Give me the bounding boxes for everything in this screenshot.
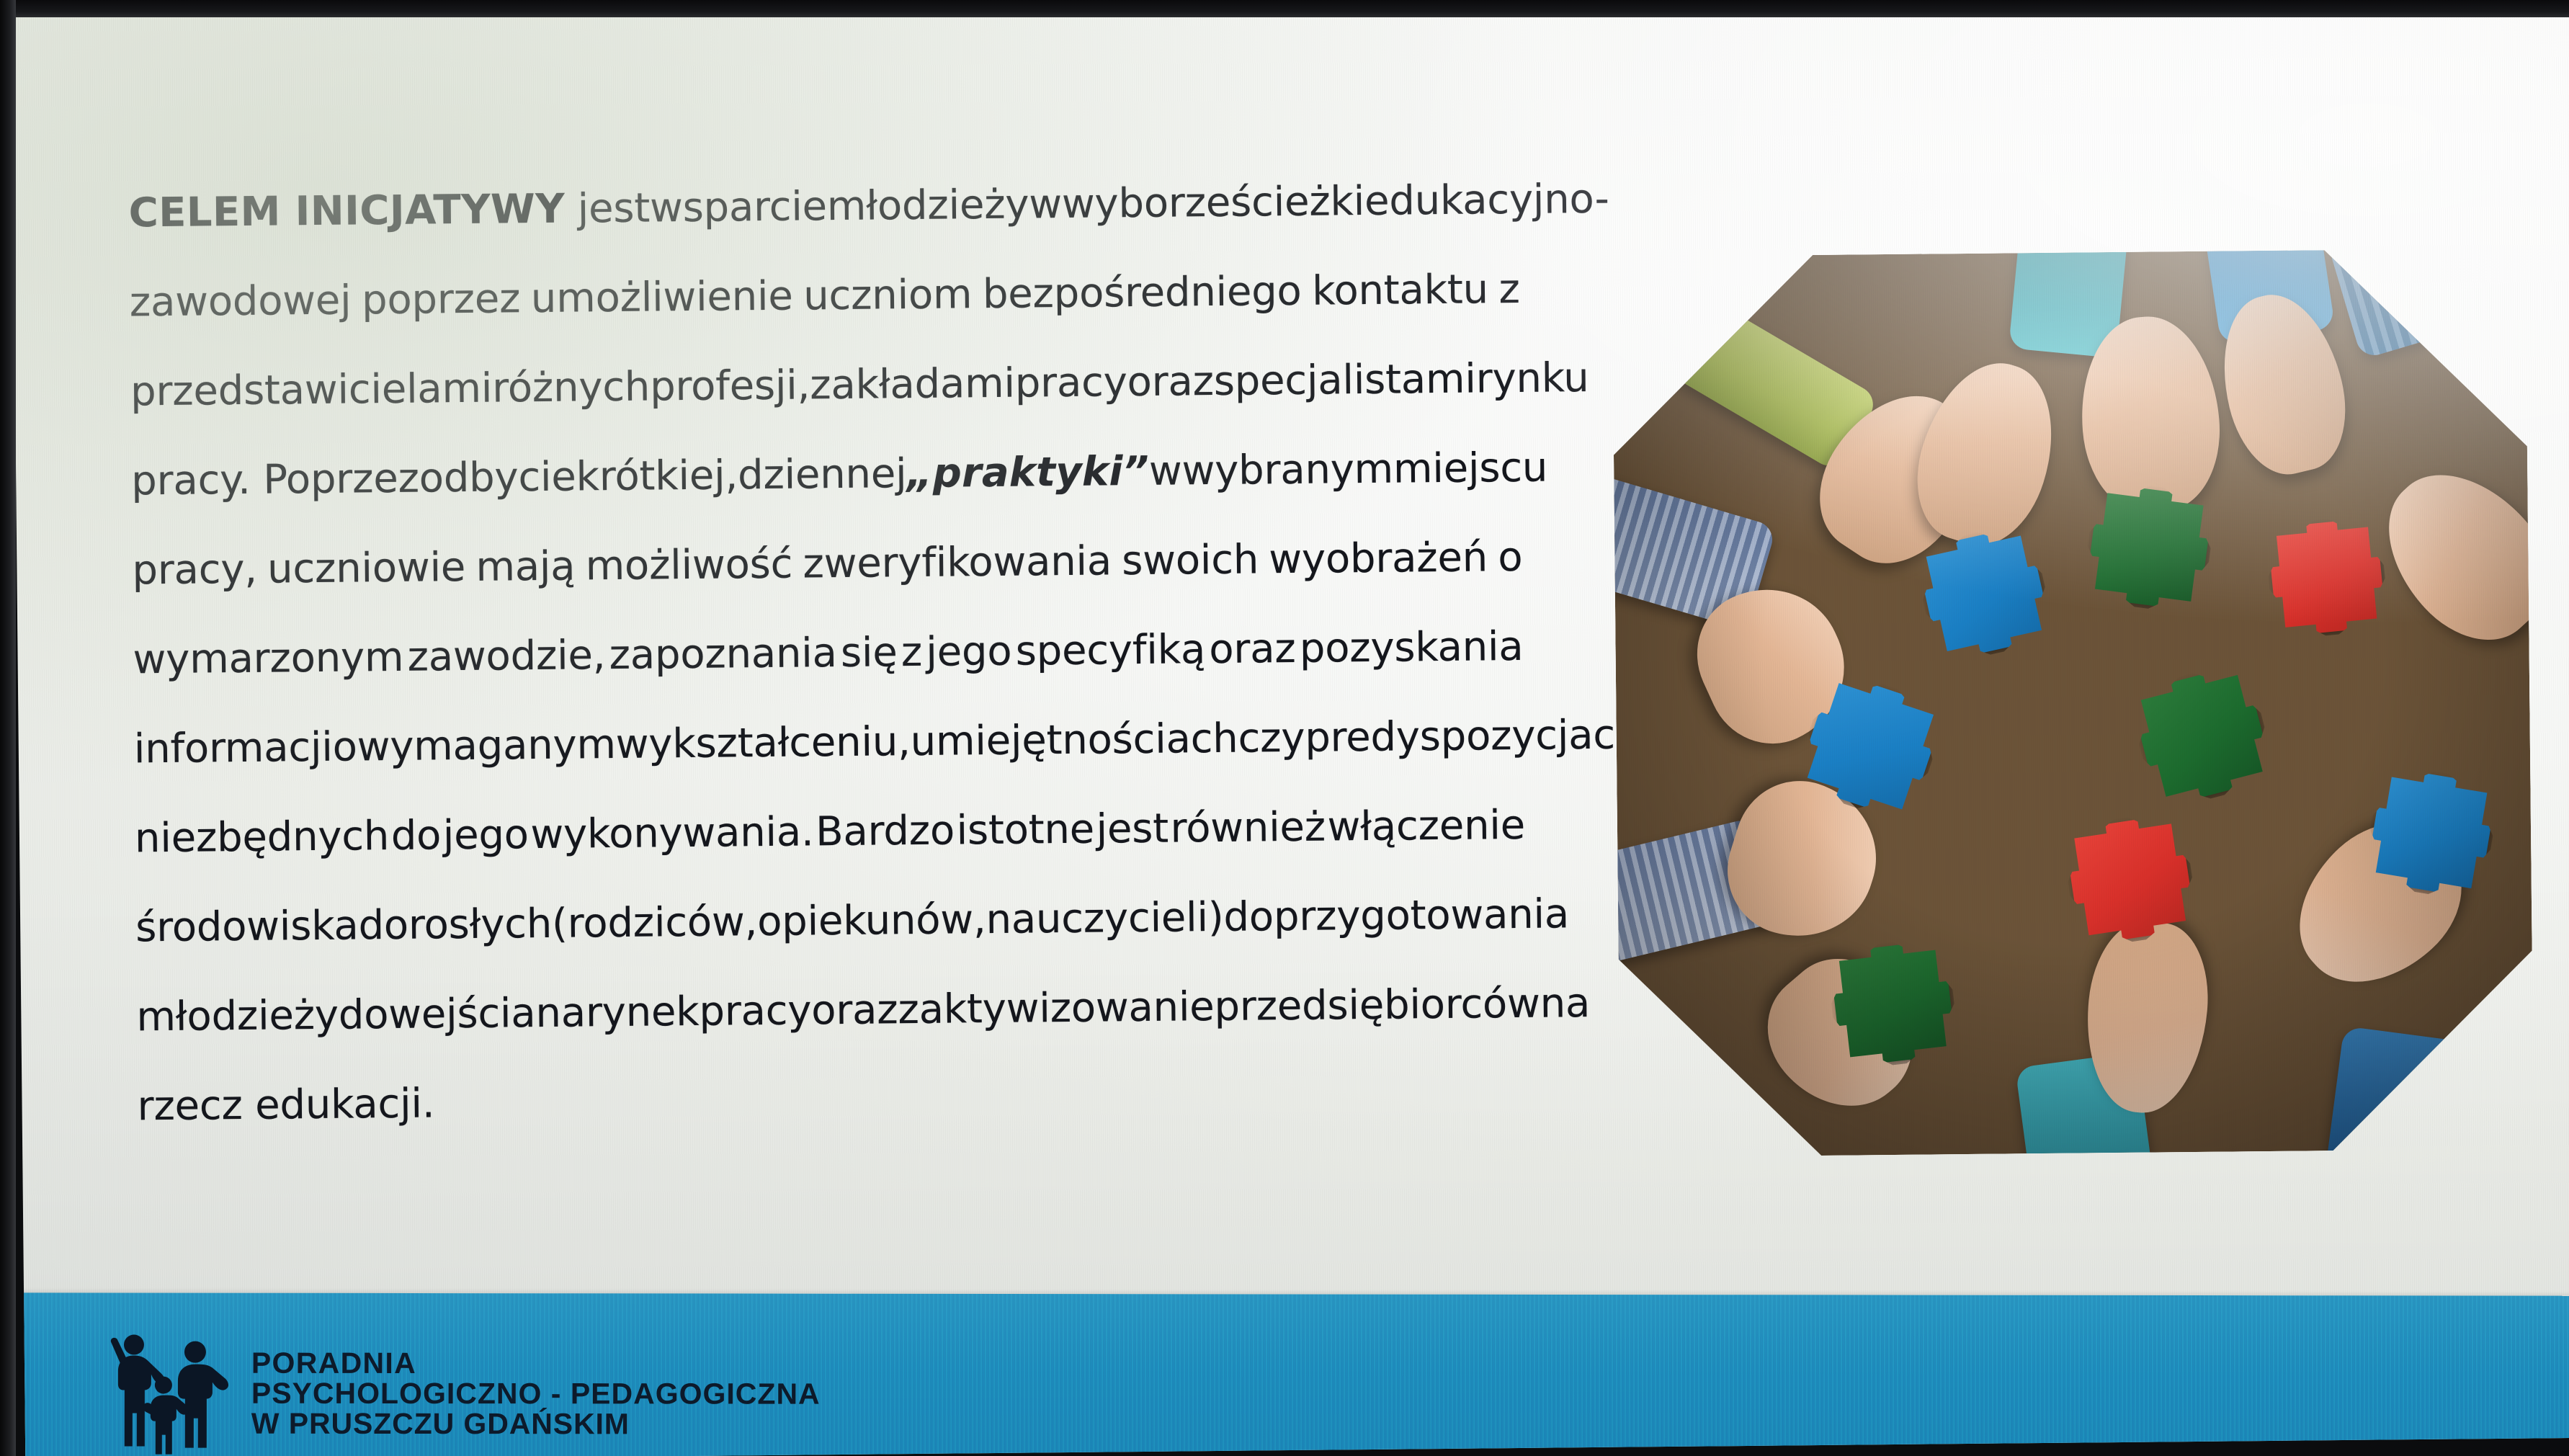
body-text-word: uczniowie xyxy=(267,523,466,615)
body-text-word: specyfiką xyxy=(1015,605,1206,697)
body-text-word: wsparcie xyxy=(649,162,827,253)
body-text-word: zweryfikowania xyxy=(803,517,1112,609)
body-text-word: kontaktu xyxy=(1312,245,1489,336)
logo-line-2: PSYCHOLOGICZNO - PEDAGOGICZNA xyxy=(251,1379,821,1410)
logo-line-3: W PRUSZCZU GDAŃSKIM xyxy=(251,1409,821,1440)
body-text-line: pracy,uczniowiemająmożliwośćzweryfikowan… xyxy=(132,513,1523,616)
body-text-word: umożliwienie xyxy=(530,252,793,344)
body-text-word: do xyxy=(1223,872,1274,963)
body-text-word: oraz xyxy=(1127,337,1214,427)
body-text-word: umiejętnościach xyxy=(910,694,1238,787)
body-text-word: w xyxy=(1148,426,1182,516)
body-text-word: również xyxy=(1170,783,1326,874)
body-text-word: z xyxy=(901,608,922,697)
body-text-word: nauczycieli) xyxy=(986,873,1224,965)
body-text-word: o xyxy=(332,702,357,792)
body-text-word: z xyxy=(1498,245,1520,334)
body-text-line: zawodowejpoprzezumożliwienieuczniombezpo… xyxy=(129,245,1520,348)
body-text-word: Bardzo xyxy=(816,786,955,877)
body-text-word: na xyxy=(535,968,586,1058)
body-text-word: pracy xyxy=(699,966,812,1056)
monitor-bezel-top xyxy=(0,0,2569,17)
body-text-word: przedsiębiorców xyxy=(1214,960,1540,1052)
body-text-line: środowiskadorosłych(rodziców,opiekunów,n… xyxy=(135,870,1527,973)
body-text-word: do xyxy=(390,791,442,881)
body-text-line: rzecz edukacji. xyxy=(137,1049,1528,1152)
body-text-word: istotne xyxy=(956,785,1095,876)
body-text-word: do xyxy=(338,970,389,1060)
body-text-word: specjalistami xyxy=(1213,335,1476,426)
body-text-word: jego xyxy=(926,607,1012,697)
monitor-bezel-left xyxy=(0,0,16,1456)
family-figures-icon xyxy=(103,1333,233,1454)
body-text-word: młodzieży xyxy=(136,971,339,1063)
body-text-word: przedstawicielami xyxy=(130,344,492,437)
body-text-word: w xyxy=(1029,160,1063,249)
body-text-word: profesji, xyxy=(650,341,810,432)
logo-line-1: PORADNIA xyxy=(251,1349,821,1380)
body-text-word: wykształceniu, xyxy=(615,697,911,790)
body-text-line: wymarzonymzawodzie,zapoznaniasięzjegospe… xyxy=(133,602,1524,705)
body-text-word: wyborze xyxy=(1061,158,1230,249)
body-text-word: wymarzonym xyxy=(133,613,404,705)
body-text-word: pracy xyxy=(1014,338,1127,428)
body-text-word: zawodzie, xyxy=(407,611,606,702)
body-text-word: różnych xyxy=(492,343,651,434)
body-text-word: wykonywania. xyxy=(530,787,814,880)
body-text-word: miejscu xyxy=(1393,424,1547,514)
organisation-logo: PORADNIA PSYCHOLOGICZNO - PEDAGOGICZNA W… xyxy=(103,1333,821,1455)
body-text-word: rzecz edukacji. xyxy=(137,1059,435,1151)
body-text-word: niezbędnych xyxy=(134,792,389,883)
body-text-word: wyobrażeń xyxy=(1269,513,1488,604)
body-text-word: zapoznania xyxy=(609,609,837,700)
body-text-word: uczniom xyxy=(803,250,973,341)
body-text-word: odbycie xyxy=(419,433,576,524)
body-text-word: „praktyki” xyxy=(906,427,1150,519)
body-text-word: wymaganym xyxy=(357,700,616,792)
body-text-word: CELEM INICJATYWY xyxy=(128,165,566,259)
body-text-word: bezpośredniego xyxy=(982,247,1302,339)
body-text-word: młodzieży xyxy=(826,160,1029,251)
body-text-word: czy xyxy=(1238,694,1305,784)
body-text-word: o xyxy=(1498,513,1523,602)
body-text-word: na xyxy=(1540,959,1591,1049)
body-text-line: pracy. Poprzezodbyciekrótkiej,dziennej„p… xyxy=(131,424,1522,527)
body-text-word: dorosłych xyxy=(358,880,553,971)
body-text-word: zaktywizowanie xyxy=(898,963,1215,1055)
body-text-word: się xyxy=(840,608,898,698)
body-text-word: jest xyxy=(565,164,651,254)
body-text-word: zawodowej xyxy=(129,256,352,347)
body-text-line: informacjiowymaganymwykształceniu,umieję… xyxy=(133,692,1524,795)
body-text-word: oraz xyxy=(811,965,898,1055)
body-text-word: poprzez xyxy=(361,254,520,345)
body-text-word: informacji xyxy=(133,703,333,795)
body-text-word: oraz xyxy=(1209,604,1296,694)
body-text-word: swoich xyxy=(1122,515,1259,606)
body-text-word: krótkiej, xyxy=(576,431,738,522)
body-text-word: wejścia xyxy=(388,969,536,1060)
body-text-word: ścieżki xyxy=(1230,157,1365,248)
body-text-word: predyspozycjach xyxy=(1305,690,1641,782)
body-text-word: środowiska xyxy=(135,881,359,973)
body-text-word: opiekunów, xyxy=(757,875,987,967)
body-text-word: pracy, xyxy=(132,525,258,616)
body-text-word: rynek xyxy=(585,968,700,1058)
body-text-word: zakładami xyxy=(810,339,1016,431)
body-text-word: pracy. Poprzez xyxy=(131,434,420,527)
body-text-word: przygotowania xyxy=(1273,870,1569,962)
body-text-line: niezbędnychdojegowykonywania.Bardzoistot… xyxy=(134,781,1525,884)
body-text-word: (rodziców, xyxy=(552,877,758,969)
body-text-word: możliwość xyxy=(585,520,793,612)
slide-body-text: CELEM INICJATYWY jestwsparciemłodzieżyww… xyxy=(128,156,1528,1151)
body-text-word: włączenie xyxy=(1327,781,1526,872)
body-text-word: dziennej xyxy=(737,429,907,520)
body-text-word: pozyskania xyxy=(1299,602,1524,694)
screen-photograph: CELEM INICJATYWY jestwsparciemłodzieżyww… xyxy=(0,0,2569,1456)
body-text-line: przedstawicielamiróżnychprofesji,zakłada… xyxy=(130,334,1521,437)
body-text-line: CELEM INICJATYWY jestwsparciemłodzieżyww… xyxy=(128,156,1519,259)
body-text-line: młodzieżydowejścianarynekpracyorazzaktyw… xyxy=(136,960,1527,1063)
body-text-word: rynku xyxy=(1475,334,1589,424)
sleeve-blue-right-bottom xyxy=(2323,1026,2487,1157)
body-text-word: edukacyjno- xyxy=(1364,155,1609,246)
body-text-word: jest xyxy=(1096,785,1169,875)
presentation-slide: CELEM INICJATYWY jestwsparciemłodzieżyww… xyxy=(12,0,2569,1456)
puzzle-piece-red-1 xyxy=(2267,517,2387,637)
body-text-word: wybranym xyxy=(1181,425,1394,517)
hands-with-puzzle-pieces-photo xyxy=(1612,249,2534,1158)
organisation-name: PORADNIA PSYCHOLOGICZNO - PEDAGOGICZNA W… xyxy=(251,1349,821,1439)
body-text-word: mają xyxy=(475,522,576,612)
body-text-word: jego xyxy=(442,790,529,880)
footer-banner: PORADNIA PSYCHOLOGICZNO - PEDAGOGICZNA W… xyxy=(12,1292,2569,1456)
